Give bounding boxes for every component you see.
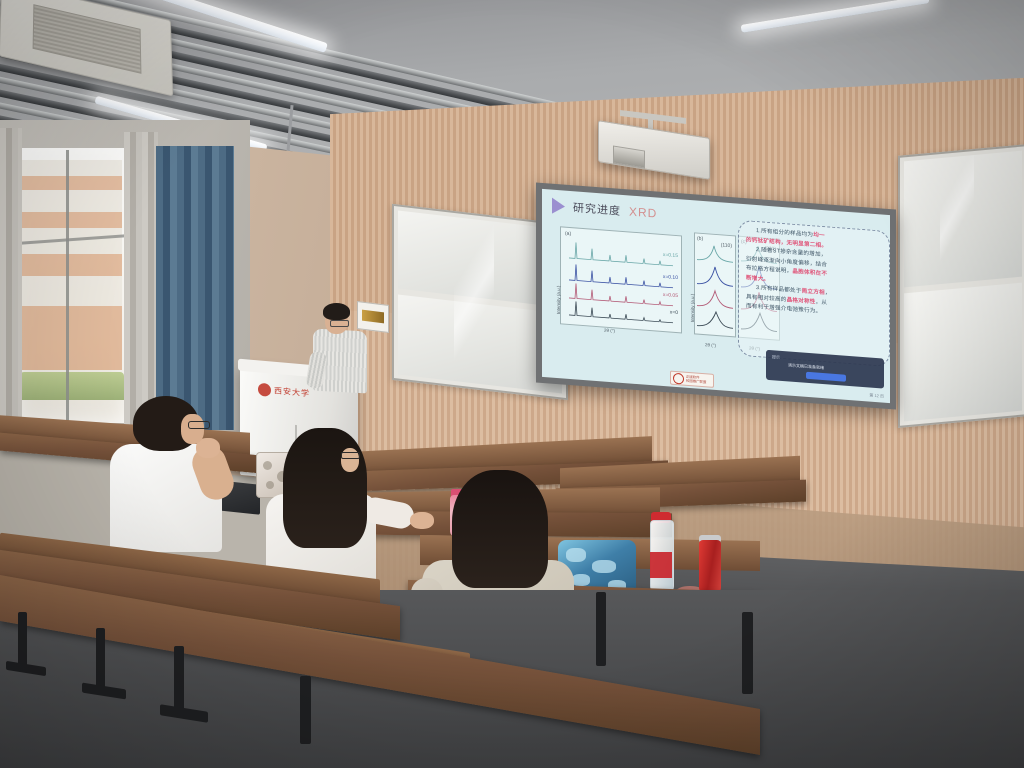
note-text-highlight: 简立方相 [802, 288, 825, 296]
university-seal-icon [258, 383, 271, 397]
curtain-gray-left[interactable] [0, 128, 22, 440]
red-can[interactable] [699, 540, 721, 592]
university-name: 西安大学 [274, 385, 310, 399]
student-left-glasses-icon [188, 421, 210, 429]
window-mullion-vertical [66, 150, 69, 422]
slide-page-number: 第 12 页 [869, 393, 884, 400]
desk-leg-right [742, 612, 753, 694]
desk-leg-right [596, 592, 606, 666]
xrd-chart-a: (a) x=0.15 x=0.10 [560, 226, 682, 333]
lecture-hall-photo: 研究进度 XRD (a) [0, 0, 1024, 768]
ceiling-light-4 [741, 0, 930, 33]
student-middle-hair [283, 428, 367, 548]
presentation-slide: 研究进度 XRD (a) [542, 189, 890, 403]
water-bottle-label [650, 552, 672, 578]
xrd-traces-b [695, 233, 735, 336]
curtain-gray-right[interactable] [124, 132, 158, 436]
student-right-hair [452, 470, 548, 588]
whiteboard-right [898, 144, 1024, 428]
x-axis-label-b: 2θ (°) [705, 342, 716, 348]
trace-label: x=0 [670, 310, 678, 317]
student-middle-glasses-icon [341, 452, 360, 459]
slide-note-box: 1.所有组分的样品均为均一 的钙钛矿结构，无明显第二相。 2.随着ST掺杂含量的… [738, 220, 890, 367]
curtain-blue[interactable] [156, 146, 234, 430]
watermark-line-2: 校园推广联盟 [686, 379, 706, 385]
note-text: ，从 [816, 299, 828, 306]
desk-leg [174, 646, 184, 712]
slide-header: 研究进度 XRD [552, 198, 657, 222]
note-text: 布拉格方程说明， [746, 265, 792, 274]
desk-leg [18, 612, 27, 668]
desk-leg [300, 676, 311, 744]
projection-screen: 研究进度 XRD (a) [536, 182, 896, 409]
y-axis-label-a: Intensity (a.u.) [556, 285, 561, 314]
xrd-chart-b: (b) (110) [694, 232, 736, 337]
popup-title: 提示 [772, 354, 780, 361]
note-text-highlight: 均一 [813, 232, 825, 239]
y-axis-label-b: Intensity (a.u.) [690, 294, 695, 323]
software-watermark-badge: 正版软件 校园推广联盟 [670, 371, 714, 388]
trace-label: x=0.15 [663, 252, 678, 259]
outside-building [22, 160, 122, 370]
whiteboard-glare [940, 155, 974, 268]
presenter-hair [323, 303, 350, 320]
popup-body: 演示文稿已准备就绪 [788, 362, 824, 371]
desk-leg [96, 628, 105, 690]
slide-subtitle: XRD [629, 204, 657, 220]
note-text: 3.所有样品都处于 [756, 285, 802, 294]
trace-label: x=0.05 [663, 292, 678, 299]
student-left-face [181, 414, 204, 444]
x-axis-label-a: 2θ (°) [604, 328, 615, 334]
presenter-glasses-icon [330, 320, 349, 327]
triangle-right-icon [552, 198, 565, 215]
note-text-highlight: 晶胞体积在不 [792, 269, 827, 278]
trace-label: x=0.10 [663, 274, 678, 281]
popup-confirm-button[interactable] [806, 372, 846, 382]
note-text-highlight: 晶格对称性 [787, 297, 816, 305]
slide-title: 研究进度 [573, 199, 621, 219]
watermark-seal-icon [673, 372, 684, 384]
note-text: 具有相对较高的 [746, 294, 787, 303]
whiteboard-panel-lower [904, 283, 1022, 422]
wall-sign [357, 301, 389, 333]
whiteboard-glare [454, 217, 494, 386]
projector-lens-icon [613, 146, 645, 169]
student-middle-hand [410, 512, 434, 529]
note-text: ， [825, 290, 831, 296]
outside-hedge [20, 372, 124, 400]
ac-grille [33, 4, 141, 73]
